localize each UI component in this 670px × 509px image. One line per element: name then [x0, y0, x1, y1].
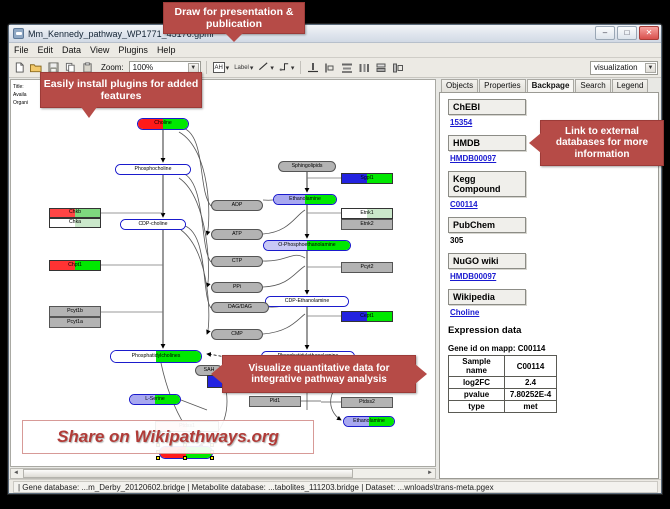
table-row: Sample name C00114 [449, 356, 557, 377]
cell-value: met [505, 401, 557, 413]
callout-link-text: Link to external databases for more info… [541, 126, 663, 161]
menu-item-edit[interactable]: Edit [38, 45, 54, 55]
callout-arrow-right-icon [415, 364, 427, 384]
gene-node-etnk2[interactable]: Etnk2 [341, 219, 393, 230]
scroll-left-icon[interactable]: ◄ [11, 469, 21, 478]
metabolite-node-sphingolipids[interactable]: Sphingolipids [278, 161, 336, 172]
zoom-label: Zoom: [101, 63, 124, 72]
node-label: Pld1 [270, 399, 280, 404]
node-label: Ethanolamine [353, 419, 385, 424]
node-label: DAG/DAG [228, 305, 252, 310]
callout-link: Link to external databases for more info… [540, 120, 664, 166]
metabolite-node-dagdag[interactable]: DAG/DAG [211, 302, 269, 313]
metabolite-node-cdp-choline[interactable]: CDP-choline [120, 219, 186, 230]
node-label: Chkb [69, 210, 81, 215]
scroll-right-icon[interactable]: ► [425, 469, 435, 478]
gene-node-sgpl1[interactable]: Sgpl1 [341, 173, 393, 184]
canvas-horizontal-scrollbar[interactable]: ◄ ► [10, 468, 436, 479]
align-icon: AH [213, 62, 225, 73]
distribute-horizontal-icon[interactable] [357, 61, 371, 75]
metabolite-node-o-phosphoethanolamine[interactable]: O-Phosphoethanolamine [263, 240, 351, 251]
close-button[interactable]: ✕ [639, 26, 659, 40]
node-label: ADP [232, 203, 243, 208]
callout-plugins: Easily install plugins for added feature… [40, 72, 202, 108]
align-bottom-icon[interactable] [306, 61, 320, 75]
backpage-header-hmdb: HMDB [448, 135, 526, 151]
chevron-down-icon[interactable]: ▾ [270, 64, 274, 72]
backpage-header-nugo: NuGO wiki [448, 253, 526, 269]
maximize-button[interactable]: □ [617, 26, 637, 40]
cell-key: log2FC [449, 377, 505, 389]
metabolite-node-choline-top[interactable]: Choline [137, 118, 189, 130]
menu-bar: File Edit Data View Plugins Help [9, 43, 661, 58]
toolbar-separator [206, 61, 207, 74]
gene-node-pcyt2[interactable]: Pcyt2 [341, 262, 393, 273]
table-row: log2FC 2.4 [449, 377, 557, 389]
align-left-icon[interactable] [323, 61, 337, 75]
gene-node-chka[interactable]: Chka [49, 218, 101, 228]
node-label: Etnk2 [360, 222, 373, 227]
callout-visualize-text: Visualize quantitative data for integrat… [223, 363, 415, 386]
backpage-header-kegg: Kegg Compound [448, 171, 526, 197]
chevron-down-icon[interactable]: ▾ [291, 64, 295, 72]
backpage-link-kegg[interactable]: C00114 [450, 200, 650, 209]
menu-item-plugins[interactable]: Plugins [118, 45, 148, 55]
node-label: Sgpl1 [360, 176, 373, 181]
cell-key: Sample name [449, 356, 505, 377]
callout-draw-text: Draw for presentation & publication [164, 6, 304, 30]
node-label: L-Serine [145, 397, 165, 402]
gene-node-chpt1[interactable]: Chpt1 [49, 260, 101, 271]
zoom-value: 100% [133, 63, 153, 72]
canvas-pane: Title: Availa Organi [9, 78, 437, 479]
node-label: Pcyt2 [361, 265, 374, 270]
node-label: Cept1 [360, 314, 374, 319]
gene-node-ptdss2[interactable]: Ptdss2 [341, 397, 393, 408]
visualization-combobox[interactable]: visualization ▼ [590, 61, 658, 75]
callout-share: Share on Wikipathways.org [22, 420, 314, 454]
label-dropdown-text: Label [234, 65, 249, 71]
status-text: | Gene database: ...m_Derby_20120602.bri… [13, 481, 658, 493]
expression-data-table: Sample name C00114 log2FC 2.4 pvalue 7.8… [448, 355, 557, 413]
backpage-link-wikipedia[interactable]: Choline [450, 308, 650, 317]
gene-id-line: Gene id on mapp: C00114 [448, 344, 650, 353]
group-icon[interactable] [391, 61, 405, 75]
chevron-down-icon[interactable]: ▼ [188, 63, 199, 73]
line-icon [258, 61, 269, 74]
minimize-button[interactable]: – [595, 26, 615, 40]
scrollbar-thumb[interactable] [23, 469, 353, 478]
selection-handle[interactable] [183, 456, 187, 460]
node-label: PPi [233, 285, 241, 290]
selection-handle[interactable] [156, 456, 160, 460]
toolbar-separator [300, 61, 301, 74]
backpage-value-pubchem: 305 [450, 236, 650, 245]
metabolite-node-ctp[interactable]: CTP [211, 256, 263, 267]
node-label: Etnk1 [360, 211, 373, 216]
node-label: Phosphatidylcholines [132, 354, 181, 359]
callout-share-text: Share on Wikipathways.org [57, 427, 279, 447]
node-label: CDP-Ethanolamine [285, 299, 329, 304]
gene-node-pcyt1b[interactable]: Pcyt1b [49, 306, 101, 317]
gene-node-pcyt1a[interactable]: Pcyt1a [49, 317, 101, 328]
connector-icon [279, 61, 290, 74]
tab-objects[interactable]: Objects [441, 79, 478, 92]
tab-backpage[interactable]: Backpage [527, 79, 575, 93]
metabolite-node-atp[interactable]: ATP [211, 229, 263, 240]
menu-item-data[interactable]: Data [62, 45, 81, 55]
stack-icon[interactable] [374, 61, 388, 75]
pathvisio-icon [13, 28, 24, 39]
callout-arrow-down-icon [225, 33, 243, 42]
side-pane-tabs: Objects Properties Backpage Search Legen… [439, 79, 659, 92]
node-label: Choline [154, 121, 172, 126]
cell-value: 2.4 [505, 377, 557, 389]
node-label: Sphingolipids [292, 164, 323, 169]
align-dropdown[interactable]: AH ▾ [212, 61, 231, 75]
node-label: Ptdss2 [359, 400, 375, 405]
node-label: Phosphocholine [135, 167, 172, 172]
line-dropdown[interactable]: ▾ [257, 61, 275, 75]
status-bar: | Gene database: ...m_Derby_20120602.bri… [9, 479, 661, 493]
cell-value: 7.80252E-4 [505, 389, 557, 401]
selection-handle[interactable] [210, 456, 214, 460]
metabolite-node-cdp-ethanolamine[interactable]: CDP-Ethanolamine [265, 296, 349, 307]
backpage-link-nugo[interactable]: HMDB00097 [450, 272, 650, 281]
node-label: CTP [232, 259, 242, 264]
metabolite-node-adp[interactable]: ADP [211, 200, 263, 211]
tab-legend[interactable]: Legend [612, 79, 649, 92]
node-label: Pcyt1a [67, 320, 83, 325]
node-label: Pcyt1b [67, 309, 83, 314]
connector-dropdown[interactable]: ▾ [278, 61, 296, 75]
label-dropdown[interactable]: Label ▾ [233, 61, 254, 75]
metabolite-node-ethanolamine-2[interactable]: Ethanolamine [343, 416, 395, 427]
node-label: Ethanolamine [289, 197, 321, 202]
pathway-canvas[interactable]: Title: Availa Organi [10, 79, 436, 467]
menu-item-file[interactable]: File [14, 45, 29, 55]
menu-item-help[interactable]: Help [157, 45, 176, 55]
node-label: Chpt1 [68, 263, 82, 268]
cell-value: C00114 [505, 356, 557, 377]
callout-arrow-left-icon [211, 364, 223, 384]
gene-node-etnk1[interactable]: Etnk1 [341, 208, 393, 219]
gene-node-cept1[interactable]: Cept1 [341, 311, 393, 322]
cell-key: type [449, 401, 505, 413]
callout-arrow-left-icon [529, 133, 541, 153]
visualization-value: visualization [594, 63, 638, 72]
expression-data-title: Expression data [448, 325, 650, 336]
gene-node-chkb[interactable]: Chkb [49, 208, 101, 218]
gene-node-pld1[interactable]: Pld1 [249, 396, 301, 407]
callout-draw: Draw for presentation & publication [163, 2, 305, 34]
backpage-header-chebi: ChEBI [448, 99, 526, 115]
new-file-icon[interactable] [12, 61, 26, 75]
node-label: O-Phosphoethanolamine [278, 243, 335, 248]
node-label: Chka [69, 220, 81, 225]
metabolite-node-phosphatidylcholines[interactable]: Phosphatidylcholines [110, 350, 202, 363]
metabolite-node-cmp[interactable]: CMP [211, 329, 263, 340]
node-label: CMP [231, 332, 243, 337]
metabolite-node-ppi[interactable]: PPi [211, 282, 263, 293]
menu-item-view[interactable]: View [90, 45, 109, 55]
title-bar: Mm_Kennedy_pathway_WP1771_45176.gpml – □… [9, 25, 661, 43]
table-row: type met [449, 401, 557, 413]
pathway-edges [11, 80, 436, 467]
chevron-down-icon[interactable]: ▼ [645, 63, 656, 73]
callout-visualize: Visualize quantitative data for integrat… [222, 355, 416, 393]
callout-arrow-down-icon [81, 107, 97, 118]
backpage-header-pubchem: PubChem [448, 217, 526, 233]
node-label: ATP [232, 232, 242, 237]
window-controls: – □ ✕ [595, 26, 659, 40]
backpage-header-wikipedia: Wikipedia [448, 289, 526, 305]
node-label: CDP-choline [138, 222, 167, 227]
cell-key: pvalue [449, 389, 505, 401]
chevron-down-icon[interactable]: ▾ [226, 64, 230, 72]
chevron-down-icon[interactable]: ▾ [250, 64, 254, 72]
distribute-vertical-icon[interactable] [340, 61, 354, 75]
callout-plugins-text: Easily install plugins for added feature… [41, 78, 201, 102]
metabolite-node-ethanolamine[interactable]: Ethanolamine [273, 194, 337, 205]
metabolite-node-l-serine-left[interactable]: L-Serine [129, 394, 181, 405]
metabolite-node-phosphocholine[interactable]: Phosphocholine [115, 164, 191, 175]
table-row: pvalue 7.80252E-4 [449, 389, 557, 401]
tab-search[interactable]: Search [575, 79, 610, 92]
pathway-drawing[interactable]: Title: Availa Organi [11, 80, 435, 466]
tab-properties[interactable]: Properties [479, 79, 525, 92]
